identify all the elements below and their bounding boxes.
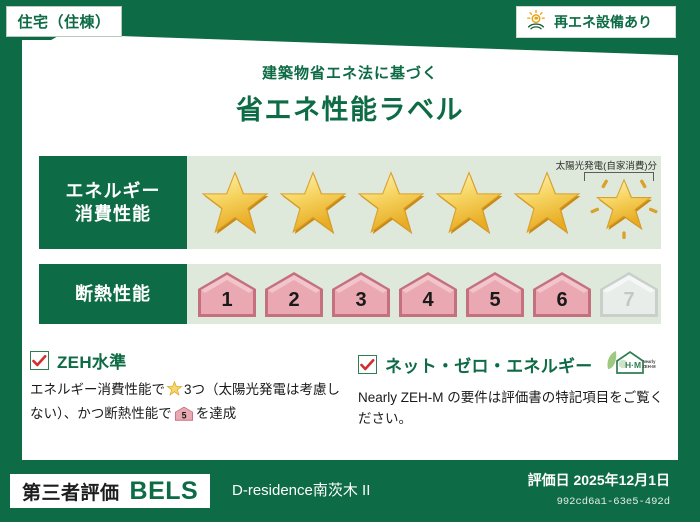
- insulation-level-4-number: 4: [422, 289, 433, 319]
- energy-performance-label: エネルギー 消費性能: [39, 156, 187, 249]
- label-title: 省エネ性能ラベル: [0, 88, 700, 127]
- insulation-label-text: 断熱性能: [75, 283, 151, 306]
- star-4: [431, 165, 507, 241]
- building-type-label: 住宅（住棟）: [17, 11, 110, 32]
- frame-top-step: [22, 40, 66, 58]
- renewable-energy-label: 再エネ設備あり: [554, 12, 652, 32]
- note-zeh-text-part3: を達成: [196, 406, 237, 421]
- insulation-level-1-number: 1: [221, 289, 232, 319]
- insulation-performance-body: 1 2 3: [187, 264, 661, 324]
- insulation-level-3-number: 3: [355, 289, 366, 319]
- nearly-zeh-m-icon: H·M Nearly ZEH-M: [605, 348, 657, 381]
- svg-text:H·M: H·M: [625, 360, 641, 370]
- evaluation-date: 評価日 2025年12月1日: [528, 470, 670, 490]
- energy-label-card: 住宅（住棟） 再エネ設備あり 建築物省エネ法に基づく 省エネ性能ラベル: [0, 0, 700, 522]
- inline-star-icon: [166, 385, 183, 400]
- insulation-level-2-number: 2: [288, 289, 299, 319]
- insulation-level-4: 4: [396, 269, 460, 319]
- footer-divider: [22, 452, 678, 460]
- note-nze-title: ネット・ゼロ・エネルギー: [385, 352, 593, 377]
- check-icon: [358, 355, 377, 374]
- insulation-level-6: 6: [530, 269, 594, 319]
- note-nze-body: Nearly ZEH-M の要件は評価書の特記項目をご覧ください。: [358, 388, 668, 430]
- bels-certification-box: 第三者評価 BELS: [10, 474, 210, 508]
- insulation-performance-label: 断熱性能: [39, 264, 187, 324]
- insulation-level-6-number: 6: [556, 289, 567, 319]
- star-3: [353, 165, 429, 241]
- bels-jp-label: 第三者評価: [22, 478, 120, 505]
- note-zeh-text-star: 3つ（太陽光発電: [184, 382, 286, 397]
- energy-label-line2: 消費性能: [75, 203, 151, 226]
- note-zeh-text-part1: エネルギー消費性能で: [30, 382, 165, 397]
- solar-sun-icon: [525, 9, 547, 36]
- insulation-level-5-number: 5: [489, 289, 500, 319]
- star-rating: [193, 156, 661, 249]
- insulation-level-1: 1: [195, 269, 259, 319]
- star-5: [509, 165, 585, 241]
- star-1: [197, 165, 273, 241]
- insulation-level-7-number: 7: [623, 289, 634, 319]
- note-zeh-body: エネルギー消費性能で3つ（太陽光発電は考慮しない）、かつ断熱性能で5を達成: [30, 380, 340, 429]
- note-net-zero-energy: ネット・ゼロ・エネルギー H·M Nearly ZEH-M Nearly ZEH…: [358, 348, 668, 430]
- insulation-level-7: 7: [597, 269, 661, 319]
- svg-text:ZEH-M: ZEH-M: [642, 364, 656, 369]
- inline-house-badge: 5: [174, 410, 194, 425]
- energy-label-line1: エネルギー: [66, 180, 161, 203]
- renewable-energy-badge: 再エネ設備あり: [516, 6, 676, 38]
- insulation-performance-row: 断熱性能 1 2: [38, 263, 662, 325]
- note-nze-header: ネット・ゼロ・エネルギー H·M Nearly ZEH-M: [358, 348, 668, 381]
- svg-text:5: 5: [181, 410, 186, 420]
- insulation-level-5: 5: [463, 269, 527, 319]
- note-zeh-header: ZEH水準: [30, 348, 340, 373]
- star-2: [275, 165, 351, 241]
- insulation-level-scale: 1 2 3: [195, 264, 661, 324]
- bels-en-label: BELS: [130, 477, 199, 506]
- star-6-solar: [587, 165, 661, 241]
- evaluation-id: 992cd6a1-63e5-492d: [557, 496, 670, 508]
- note-zeh-title: ZEH水準: [57, 348, 127, 373]
- insulation-level-2: 2: [262, 269, 326, 319]
- notes-section: ZEH水準 エネルギー消費性能で3つ（太陽光発電は考慮しない）、かつ断熱性能で5…: [30, 348, 670, 430]
- building-name: D-residence南茨木 II: [232, 479, 370, 500]
- building-type-tag: 住宅（住棟）: [6, 6, 122, 37]
- note-zeh-standard: ZEH水準 エネルギー消費性能で3つ（太陽光発電は考慮しない）、かつ断熱性能で5…: [30, 348, 340, 430]
- energy-performance-row: エネルギー 消費性能 太陽光発電(自家消費)分: [38, 155, 662, 250]
- check-icon: [30, 351, 49, 370]
- insulation-level-3: 3: [329, 269, 393, 319]
- label-subtitle: 建築物省エネ法に基づく: [0, 62, 700, 83]
- energy-performance-body: 太陽光発電(自家消費)分: [187, 156, 661, 249]
- label-title-block: 建築物省エネ法に基づく 省エネ性能ラベル: [0, 62, 700, 127]
